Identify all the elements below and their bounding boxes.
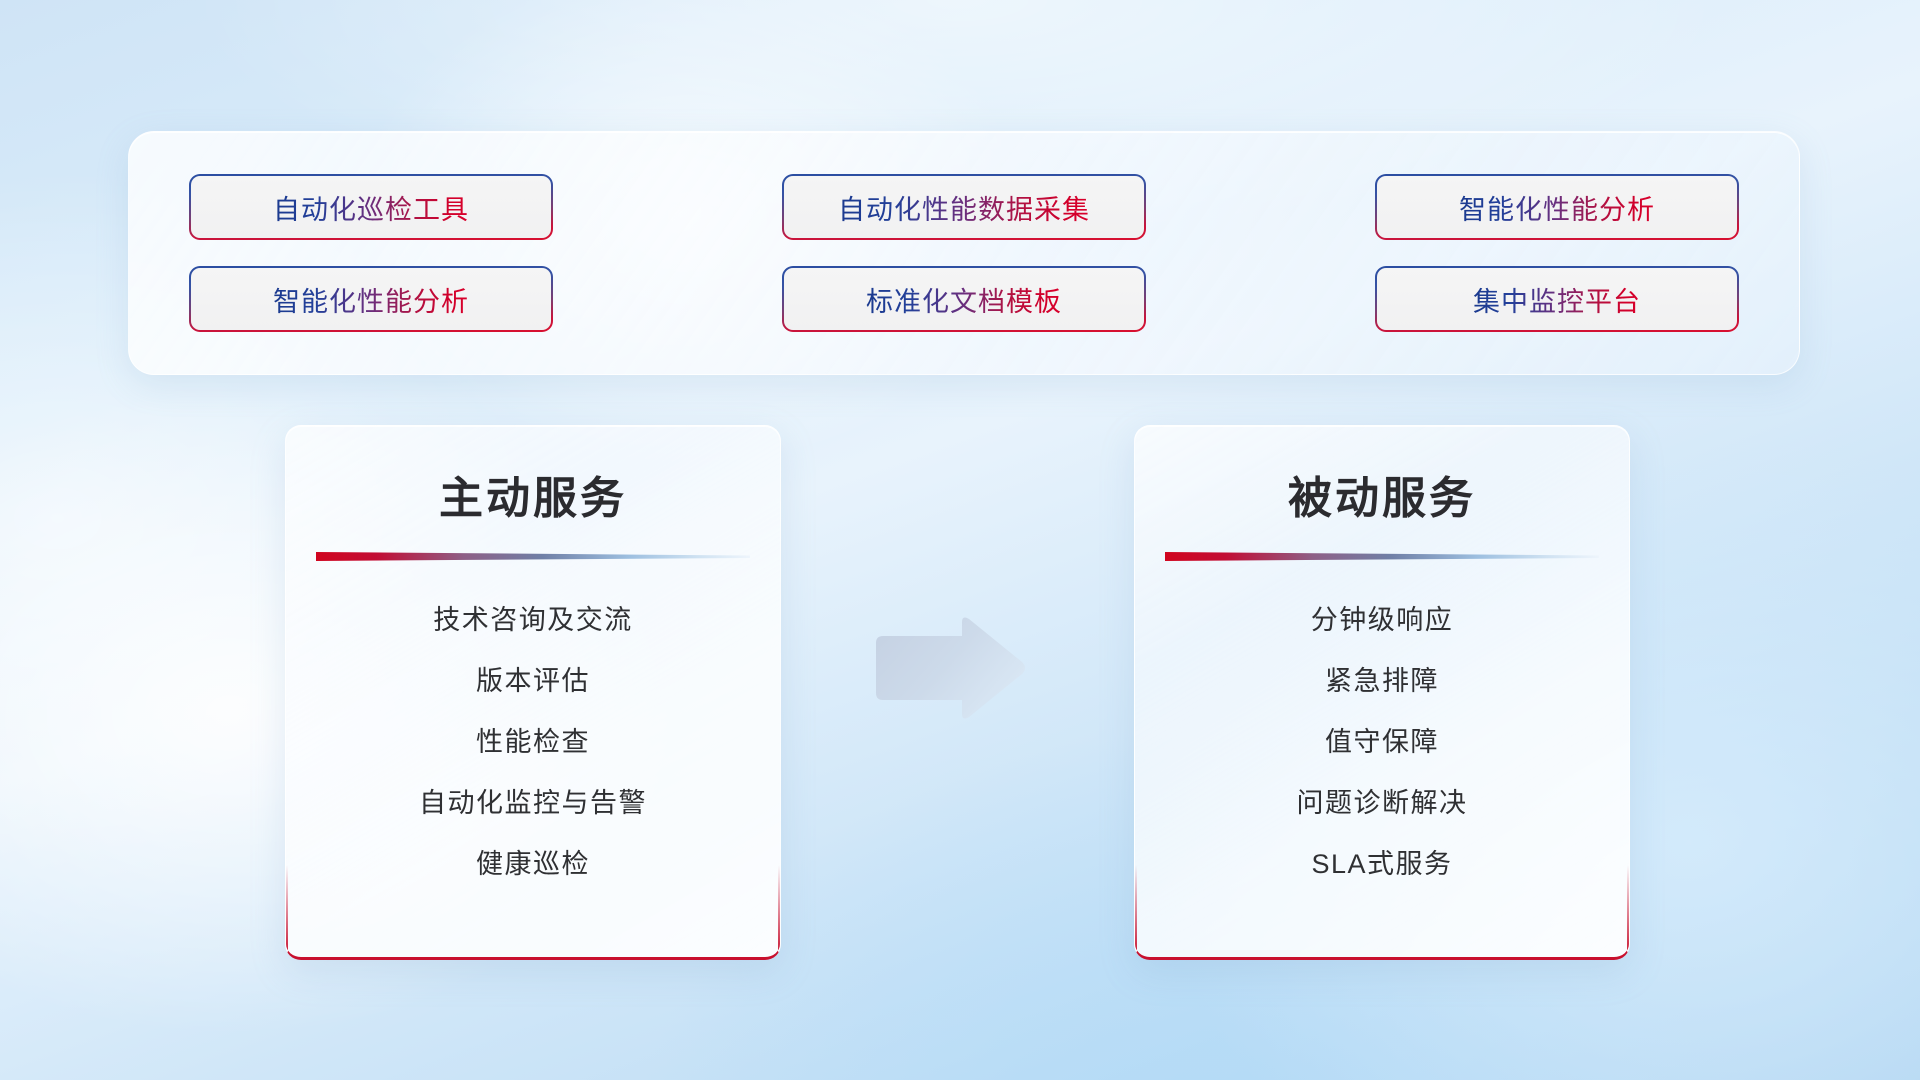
card-list-item[interactable]: SLA式服务 xyxy=(1135,834,1629,895)
card-list-item[interactable]: 健康巡检 xyxy=(286,834,780,895)
card-list-item[interactable]: 值守保障 xyxy=(1135,712,1629,773)
card-list-item[interactable]: 问题诊断解决 xyxy=(1135,773,1629,834)
capability-pill-label: 集中监控平台 xyxy=(1473,280,1641,319)
service-card-proactive: 主动服务 技术咨询及交流 版本评估 性能检查 自动化监控与告警 健康巡检 xyxy=(285,425,781,960)
capability-pill-label: 自动化性能数据采集 xyxy=(838,188,1090,227)
capabilities-panel: 自动化巡检工具 自动化性能数据采集 智能化性能分析 智能化性能分析 标准化文档模… xyxy=(128,131,1800,375)
capability-pill-2[interactable]: 自动化性能数据采集 xyxy=(784,176,1144,238)
card-title: 被动服务 xyxy=(1135,462,1629,526)
capability-pill-3[interactable]: 智能化性能分析 xyxy=(1377,176,1737,238)
card-item-list: 分钟级响应 紧急排障 值守保障 问题诊断解决 SLA式服务 xyxy=(1135,590,1629,895)
card-item-list: 技术咨询及交流 版本评估 性能检查 自动化监控与告警 健康巡检 xyxy=(286,590,780,895)
capability-pill-label: 智能化性能分析 xyxy=(273,280,469,319)
capabilities-row-1: 自动化巡检工具 自动化性能数据采集 智能化性能分析 xyxy=(191,176,1737,238)
capability-pill-label: 自动化巡检工具 xyxy=(273,188,469,227)
card-edge-right xyxy=(778,865,780,957)
card-list-item[interactable]: 分钟级响应 xyxy=(1135,590,1629,651)
card-list-item[interactable]: 自动化监控与告警 xyxy=(286,773,780,834)
card-list-item[interactable]: 版本评估 xyxy=(286,651,780,712)
capability-pill-label: 智能化性能分析 xyxy=(1459,188,1655,227)
capability-pill-5[interactable]: 标准化文档模板 xyxy=(784,268,1144,330)
capability-pill-4[interactable]: 智能化性能分析 xyxy=(191,268,551,330)
capability-pill-1[interactable]: 自动化巡检工具 xyxy=(191,176,551,238)
capability-pill-label: 标准化文档模板 xyxy=(866,280,1062,319)
card-edge-left xyxy=(286,865,288,957)
card-divider xyxy=(1165,550,1599,564)
card-list-item[interactable]: 紧急排障 xyxy=(1135,651,1629,712)
card-list-item[interactable]: 性能检查 xyxy=(286,712,780,773)
service-card-reactive: 被动服务 分钟级响应 紧急排障 值守保障 问题诊断解决 SLA式服务 xyxy=(1134,425,1630,960)
card-edge-right xyxy=(1627,865,1629,957)
card-title: 主动服务 xyxy=(286,462,780,526)
capability-pill-6[interactable]: 集中监控平台 xyxy=(1377,268,1737,330)
card-list-item[interactable]: 技术咨询及交流 xyxy=(286,590,780,651)
right-arrow-icon xyxy=(870,613,1030,723)
card-divider xyxy=(316,550,750,564)
capabilities-row-2: 智能化性能分析 标准化文档模板 集中监控平台 xyxy=(191,268,1737,330)
card-edge-left xyxy=(1135,865,1137,957)
